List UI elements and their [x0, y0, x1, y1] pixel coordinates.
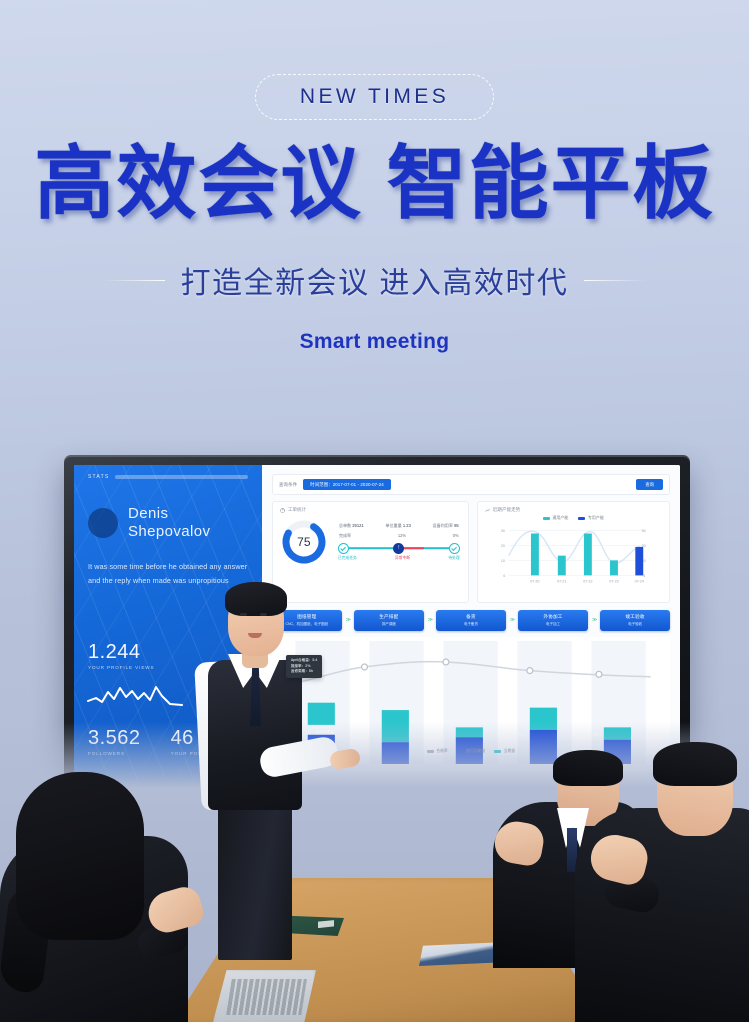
slide-header: STATS — [88, 474, 248, 480]
slide-stat-1: 3.562 FOLLOWERS — [88, 727, 141, 756]
legend-label: 前月同期量 — [466, 749, 485, 754]
legend-label: 通用产能 — [552, 515, 568, 521]
stacked-bar-chart-card: April合格量：5.4 报废率：2% 返修周期：5h — [272, 637, 670, 755]
flow-step-4[interactable]: 竣工验收 电子验收 — [600, 610, 670, 630]
attendee-sleeve — [602, 871, 662, 915]
blue-folder — [419, 940, 551, 966]
flow-step-sub: 排产调度 — [356, 622, 422, 627]
chevron-right-icon: ≫ — [592, 617, 596, 623]
avatar — [88, 508, 118, 538]
chart-icon — [280, 508, 285, 513]
legend-item-1: 专用产能 — [578, 515, 604, 521]
step-bottom-labels: 已完成任务 异常中断 待处理 — [337, 556, 461, 561]
subtitle-container: 打造全新会议 进入高效时代 — [0, 258, 749, 302]
kpi-0: 总单数 29121 — [339, 523, 364, 529]
flow-step-sub: 电子验收 — [602, 622, 668, 627]
stat-caption: YOUR PROFILE VIEWS — [88, 665, 155, 670]
rule-left — [103, 280, 165, 281]
tooltip-line-2: 返修周期：5h — [291, 669, 318, 675]
svg-text:20: 20 — [501, 544, 505, 548]
poster-root: NEW TIMES 高效会议 智能平板 打造全新会议 进入高效时代 Smart … — [0, 0, 749, 1022]
flow-step-title: 外协加工 — [520, 614, 586, 620]
kpi-2: 设备利用率 95 — [433, 523, 459, 529]
trend-icon — [485, 508, 490, 513]
presenter — [196, 560, 316, 960]
trend-legend: 通用产能 专用产能 — [485, 515, 662, 521]
presenter-hair — [225, 582, 287, 616]
kpi-row: 总单数 29121 单位重量 1.23 设备利用率 95 — [337, 523, 461, 529]
flow-step-title: 竣工验收 — [602, 614, 668, 620]
chevron-right-icon: ≫ — [346, 617, 350, 623]
slide-profile: Denis Shepovalov — [88, 505, 248, 542]
process-flow: 图纸管理 CNC、机加图纸、电子图纸 ≫ 生产排配 排产调度 ≫ 备货 电子备货… — [272, 610, 670, 630]
stat-value: 3.562 — [88, 727, 141, 750]
legend-label: 当期量 — [504, 749, 515, 754]
presenter-eye-right — [260, 613, 267, 616]
step-node-pending-icon[interactable] — [449, 543, 460, 554]
legend-label: 专用产能 — [588, 515, 604, 521]
legend-swatch — [457, 750, 464, 753]
dashboard-toolbar: 查询条件 时间范围：2017-07-01 - 2020-07-24 查询 — [272, 474, 670, 495]
step-label-2: 待处理 — [448, 556, 459, 561]
legend-item-2: 当期量 — [494, 749, 515, 754]
slide-progress-bar — [115, 475, 247, 479]
query-button[interactable]: 查询 — [636, 479, 663, 490]
trend-chart: 3020 100 3020 100 — [485, 524, 662, 592]
trend-card: 近期产能走势 通用产能 专用产能 — [477, 501, 670, 603]
step-label-1: 异常中断 — [395, 556, 410, 561]
attendee-sleeve — [135, 920, 191, 961]
trend-card-header: 近期产能走势 — [485, 507, 662, 513]
svg-text:0: 0 — [643, 574, 645, 578]
slide-stat-0: 1.244 YOUR PROFILE VIEWS — [88, 641, 155, 670]
svg-text:07-24: 07-24 — [634, 580, 643, 584]
legend-item-1: 前月同期量 — [457, 749, 485, 754]
step-label-0: 已完成任务 — [338, 556, 357, 561]
page-subtitle: 打造全新会议 进入高效时代 — [181, 258, 569, 302]
bar-label-0: 前月同期量 — [316, 730, 334, 735]
svg-text:07-22: 07-22 — [583, 580, 592, 584]
step-top-2: 0% — [453, 533, 459, 539]
display-screen: STATS Denis Shepovalov It was some time … — [74, 465, 680, 819]
svg-text:30: 30 — [501, 529, 505, 533]
svg-text:07-23: 07-23 — [609, 580, 618, 584]
chevron-right-icon: ≫ — [428, 617, 432, 623]
profile-name: Denis Shepovalov — [128, 505, 248, 542]
step-track: ! — [337, 543, 461, 554]
tooltip-line-0: April合格量：5.4 — [291, 658, 318, 664]
gauge-value: 75 — [280, 518, 328, 566]
chart-tooltip: April合格量：5.4 报废率：2% 返修周期：5h — [286, 655, 323, 679]
stat-caption: FOLLOWERS — [88, 751, 141, 756]
presenter-eye-left — [240, 613, 247, 616]
page-title: 高效会议 智能平板 — [0, 142, 749, 226]
trend-bars — [531, 534, 643, 576]
step-top-labels: 完成率 12% 0% — [337, 533, 461, 539]
sparkline-chart — [86, 679, 186, 709]
flow-step-sub: 电子备货 — [438, 622, 504, 627]
legend-item-0: 合格率 — [427, 749, 448, 754]
ponytail — [0, 886, 54, 995]
flow-step-title: 生产排配 — [356, 614, 422, 620]
dashboard-cards-row: 工单统计 75 — [272, 501, 670, 603]
svg-text:10: 10 — [501, 559, 505, 563]
stat-value: 1.244 — [88, 641, 155, 664]
legend-item-0: 通用产能 — [543, 515, 569, 521]
office-chair — [0, 902, 102, 1022]
flow-step-1[interactable]: 生产排配 排产调度 — [354, 610, 424, 630]
legend-label: 合格率 — [436, 749, 447, 754]
eyebrow-container: NEW TIMES — [0, 74, 749, 120]
step-tracker: 总单数 29121 单位重量 1.23 设备利用率 95 完成率 12% 0% — [337, 523, 461, 562]
filter-label: 查询条件 — [279, 482, 297, 488]
page-tagline: Smart meeting — [0, 330, 749, 354]
smart-display-bezel: STATS Denis Shepovalov It was some time … — [64, 455, 690, 841]
trend-card-title: 近期产能走势 — [493, 507, 521, 513]
notebook-label — [318, 920, 334, 928]
legend-swatch — [494, 750, 501, 753]
slide-brand-label: STATS — [88, 474, 109, 480]
kpi-1: 单位重量 1.23 — [385, 523, 410, 529]
svg-text:0: 0 — [503, 574, 505, 578]
svg-text:30: 30 — [641, 529, 645, 533]
step-node-complete-icon[interactable] — [338, 543, 349, 554]
legend-swatch — [543, 517, 550, 520]
step-top-0: 完成率 — [339, 533, 351, 539]
rule-right — [584, 280, 646, 281]
stacked-bar-chart — [288, 641, 658, 764]
donut-gauge: 75 — [280, 518, 328, 566]
attendee-body — [0, 836, 188, 1022]
step-top-1: 12% — [398, 533, 406, 539]
slide-stats-row: 3.562 FOLLOWERS 46 YOUR POSTS — [88, 727, 210, 756]
flow-step-2[interactable]: 备货 电子备货 — [436, 610, 506, 630]
legend-swatch — [427, 750, 434, 753]
svg-text:07-20: 07-20 — [530, 580, 539, 584]
legend-swatch — [578, 517, 585, 520]
svg-text:07-21: 07-21 — [557, 580, 566, 584]
gauge-card-title: 工单统计 — [288, 507, 306, 513]
flow-step-sub: 电子加工 — [520, 622, 586, 627]
chevron-right-icon: ≫ — [510, 617, 514, 623]
gauge-card-header: 工单统计 — [280, 507, 461, 513]
laptop — [212, 970, 316, 1022]
flow-step-3[interactable]: 外协加工 电子加工 — [518, 610, 588, 630]
date-range-pill[interactable]: 时间范围：2017-07-01 - 2020-07-24 — [303, 479, 391, 490]
step-node-alert-icon[interactable]: ! — [393, 543, 404, 554]
laptop-keyboard — [226, 979, 307, 1015]
flow-step-title: 备货 — [438, 614, 504, 620]
eyebrow-badge: NEW TIMES — [255, 74, 494, 120]
